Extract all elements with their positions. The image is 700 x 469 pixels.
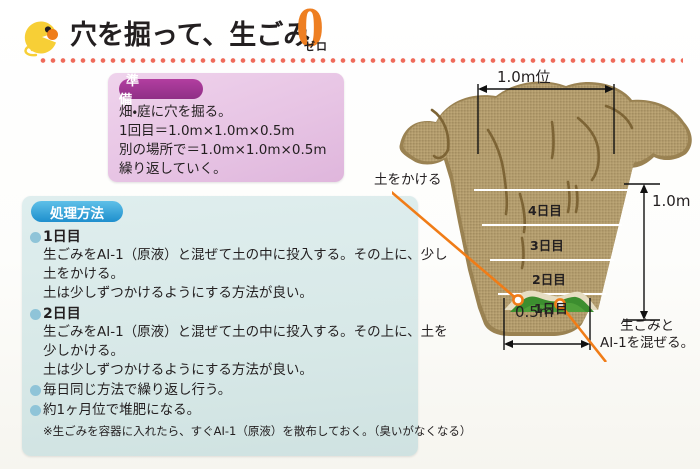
method-panel: 処理方法 1日目 生ごみをAI-1（原液）と混ぜて土の中に投入する。その上に、少…	[22, 196, 418, 456]
day1-line-3: 土は少しずつかけるようにする方法が良い。	[30, 284, 412, 303]
preparation-line-1: 畑・庭に穴を掘る。	[119, 103, 336, 122]
preparation-lines: 畑・庭に穴を掘る。 1回目＝1.0m×1.0m×0.5m 別の場所で＝1.0m×…	[119, 103, 336, 179]
method-note: ※生ごみを容器に入れたら、すぐAI-1（原液）を散布しておく。（臭いがなくなる）	[30, 423, 412, 439]
preparation-line-2: 1回目＝1.0m×1.0m×0.5m	[119, 122, 336, 141]
day2-line-1: 生ごみをAI-1（原液）と混ぜて土の中に投入する。その上に、土を	[30, 323, 412, 342]
preparation-line-3: 別の場所で＝1.0m×1.0m×0.5m	[119, 141, 336, 160]
page-title: 穴を掘って、生ごみ	[70, 13, 310, 52]
day2-line-2: 少しかける。	[30, 342, 412, 361]
preparation-panel: 準 備 畑・庭に穴を掘る。 1回目＝1.0m×1.0m×0.5m 別の場所で＝1…	[108, 73, 344, 182]
day1-line-2: 土をかける。	[30, 265, 412, 284]
method-badge: 処理方法	[31, 201, 123, 222]
page-header: 穴を掘って、生ごみ 0 ゼロ	[0, 0, 700, 62]
layer-label-day2: 2日目	[532, 269, 566, 288]
layer-label-day1: 1日目	[534, 298, 568, 317]
preparation-line-4: 繰り返していく。	[119, 160, 336, 179]
layer-label-day3: 3日目	[530, 235, 564, 254]
day1-line-1: 生ごみをAI-1（原液）と混ぜて土の中に投入する。その上に、少し	[30, 246, 412, 265]
method-bullet-1: 毎日同じ方法で繰り返し行う。	[30, 380, 412, 400]
zero-ruby: ゼロ	[304, 38, 328, 54]
callout-mix: 生ごみと AI-1を混ぜる。	[600, 318, 694, 352]
callout-cover-soil: 土をかける	[374, 172, 442, 189]
orange-dot-icon	[47, 29, 58, 40]
dimension-right-label: 1.0m	[652, 192, 690, 210]
day2-heading: 2日目	[30, 305, 412, 323]
dimension-top-label: 1.0m位	[497, 66, 550, 87]
day2-line-3: 土は少しずつかけるようにする方法が良い。	[30, 361, 412, 380]
page-root: 穴を掘って、生ごみ 0 ゼロ 準 備 畑・庭に穴を掘る。 1回目＝1.0m×1.…	[0, 0, 700, 469]
callout-mix-line-2: AI-1を混ぜる。	[600, 335, 694, 352]
method-body: 1日目 生ごみをAI-1（原液）と混ぜて土の中に投入する。その上に、少し 土をか…	[30, 226, 412, 439]
callout-mix-line-1: 生ごみと	[600, 318, 694, 335]
day1-heading: 1日目	[30, 228, 412, 246]
method-bullet-2: 約1ヶ月位で堆肥になる。	[30, 400, 412, 420]
layer-label-day4: 4日目	[528, 200, 562, 219]
preparation-badge: 準 備	[119, 79, 203, 99]
